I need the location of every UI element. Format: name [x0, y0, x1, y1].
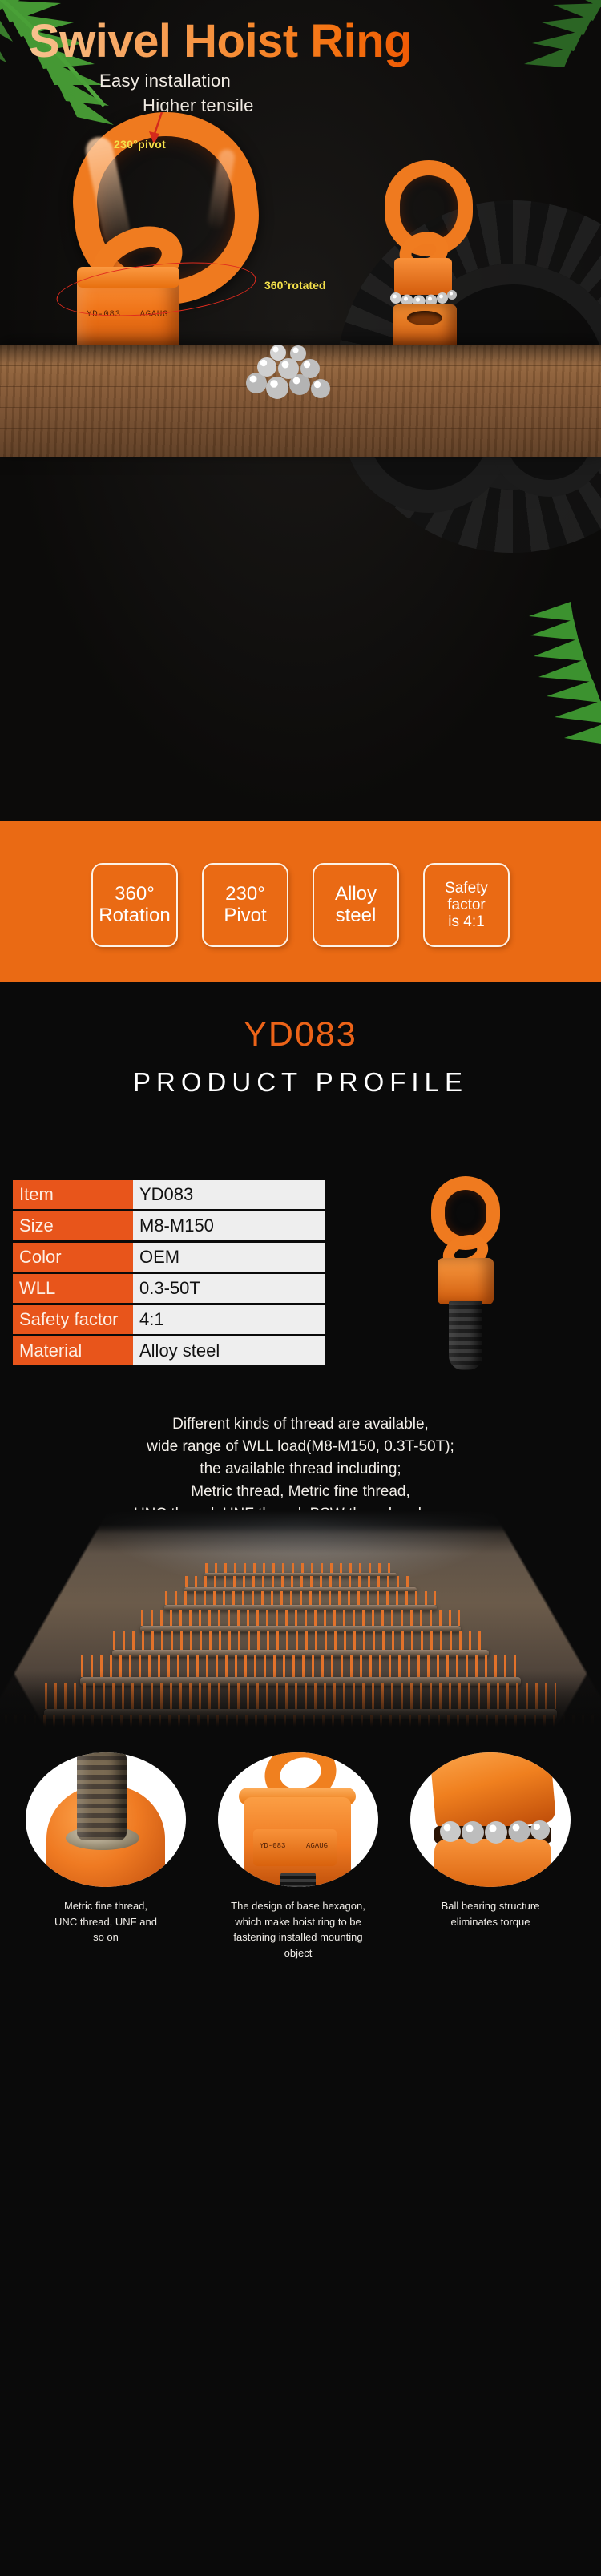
spec-key-item: Item [13, 1180, 133, 1209]
table-row: Size M8-M150 [13, 1211, 325, 1240]
thread-detail-photo [26, 1752, 186, 1887]
badge-pivot-line1: 230° [225, 884, 265, 905]
product-code: YD083 [0, 1015, 601, 1054]
spec-key-size: Size [13, 1211, 133, 1240]
production-photo-section [0, 1510, 601, 1743]
feature-caption-hexagon: The design of base hexagon, which make h… [218, 1898, 378, 1961]
badge-rotation-line2: Rotation [99, 905, 170, 927]
description-line-1: Different kinds of thread are available, [0, 1413, 601, 1436]
table-row: Item YD083 [13, 1180, 325, 1209]
badge-safety-line3: is 4:1 [448, 913, 484, 930]
feature-photo-mark-left: YD-083 [260, 1842, 285, 1850]
product-marketing-page: Swivel Hoist Ring Easy installation High… [0, 0, 601, 2576]
feature-caption-hexagon-line2: which make hoist ring to be [218, 1914, 378, 1930]
hero-section: Swivel Hoist Ring Easy installation High… [0, 0, 601, 821]
feature-caption-hexagon-line3: fastening installed mounting [218, 1929, 378, 1945]
badge-rotation[interactable]: 360° Rotation [91, 863, 178, 947]
photo-fade-bottom [0, 1671, 601, 1743]
spec-key-material: Material [13, 1336, 133, 1365]
badge-safety-factor[interactable]: Safety factor is 4:1 [423, 863, 510, 947]
spec-key-safety-factor: Safety factor [13, 1305, 133, 1334]
feature-caption-ball-bearing: Ball bearing structure eliminates torque [410, 1898, 571, 1929]
badge-pivot-line2: Pivot [224, 905, 266, 927]
feature-photo-mark-right: AGAUG [306, 1842, 328, 1850]
feature-caption-hexagon-line1: The design of base hexagon, [218, 1898, 378, 1914]
hexagon-base-photo: YD-083 AGAUG [218, 1752, 378, 1887]
spec-value-item: YD083 [133, 1180, 325, 1209]
feature-caption-hexagon-line4: object [218, 1945, 378, 1961]
ball-bearing-photo [410, 1752, 571, 1887]
badge-safety-line2: factor [447, 897, 486, 913]
badge-rotation-line1: 360° [115, 884, 155, 905]
description-line-3: the available thread including; [0, 1458, 601, 1481]
spec-value-wll: 0.3-50T [133, 1274, 325, 1303]
feature-caption-ball-bearing-line1: Ball bearing structure [410, 1898, 571, 1914]
product-profile-label: PRODUCT PROFILE [0, 1067, 601, 1098]
production-photo [0, 1510, 601, 1743]
badge-material-line1: Alloy [335, 884, 377, 905]
spec-value-color: OEM [133, 1243, 325, 1272]
badge-material-line2: steel [336, 905, 377, 927]
product-profile-header: YD083 PRODUCT PROFILE [0, 982, 601, 1170]
feature-details-section: Metric fine thread, UNC thread, UNF and … [0, 1743, 601, 2015]
spec-value-safety-factor: 4:1 [133, 1305, 325, 1334]
badge-safety-line1: Safety [445, 880, 488, 897]
table-row: Safety factor 4:1 [13, 1305, 325, 1334]
description-line-4: Metric thread, Metric fine thread, [0, 1481, 601, 1503]
loose-ball-bearings-graphic [240, 345, 345, 401]
spec-value-material: Alloy steel [133, 1336, 325, 1365]
feature-card-hexagon: YD-083 AGAUG The design of base hexagon,… [218, 1752, 378, 1961]
feature-badges-section: 360° Rotation 230° Pivot Alloy steel Saf… [0, 821, 601, 982]
rotation-callout-label: 360°rotated [264, 279, 325, 292]
specifications-product-graphic [396, 1170, 532, 1394]
feature-card-ball-bearing: Ball bearing structure eliminates torque [410, 1752, 571, 1929]
table-row: Color OEM [13, 1243, 325, 1272]
feature-caption-thread-line3: so on [26, 1929, 186, 1945]
specifications-table: Item YD083 Size M8-M150 Color OEM WLL 0.… [13, 1178, 325, 1368]
description-line-2: wide range of WLL load(M8-M150, 0.3T-50T… [0, 1436, 601, 1458]
feature-caption-thread-line1: Metric fine thread, [26, 1898, 186, 1914]
feature-caption-thread-line2: UNC thread, UNF and [26, 1914, 186, 1930]
feature-caption-thread: Metric fine thread, UNC thread, UNF and … [26, 1898, 186, 1945]
badge-material[interactable]: Alloy steel [313, 863, 399, 947]
ball-bearing-row-icon [439, 1816, 551, 1844]
table-row: Material Alloy steel [13, 1336, 325, 1365]
feature-badges-row: 360° Rotation 230° Pivot Alloy steel Saf… [0, 863, 601, 947]
spec-value-size: M8-M150 [133, 1211, 325, 1240]
hoist-ring-nut-graphic [393, 304, 457, 349]
description-section: Different kinds of thread are available,… [0, 1410, 601, 1510]
hero-subtitle-1: Easy installation [99, 71, 231, 91]
specifications-section: Item YD083 Size M8-M150 Color OEM WLL 0.… [0, 1170, 601, 1410]
spec-key-wll: WLL [13, 1274, 133, 1303]
spec-key-color: Color [13, 1243, 133, 1272]
photo-fade-top [0, 1510, 601, 1554]
pivot-callout-label: 230°pivot [114, 138, 166, 151]
feature-card-thread: Metric fine thread, UNC thread, UNF and … [26, 1752, 186, 1945]
feature-caption-ball-bearing-line2: eliminates torque [410, 1914, 571, 1930]
table-row: WLL 0.3-50T [13, 1274, 325, 1303]
badge-pivot[interactable]: 230° Pivot [202, 863, 288, 947]
page-title: Swivel Hoist Ring [29, 18, 412, 67]
